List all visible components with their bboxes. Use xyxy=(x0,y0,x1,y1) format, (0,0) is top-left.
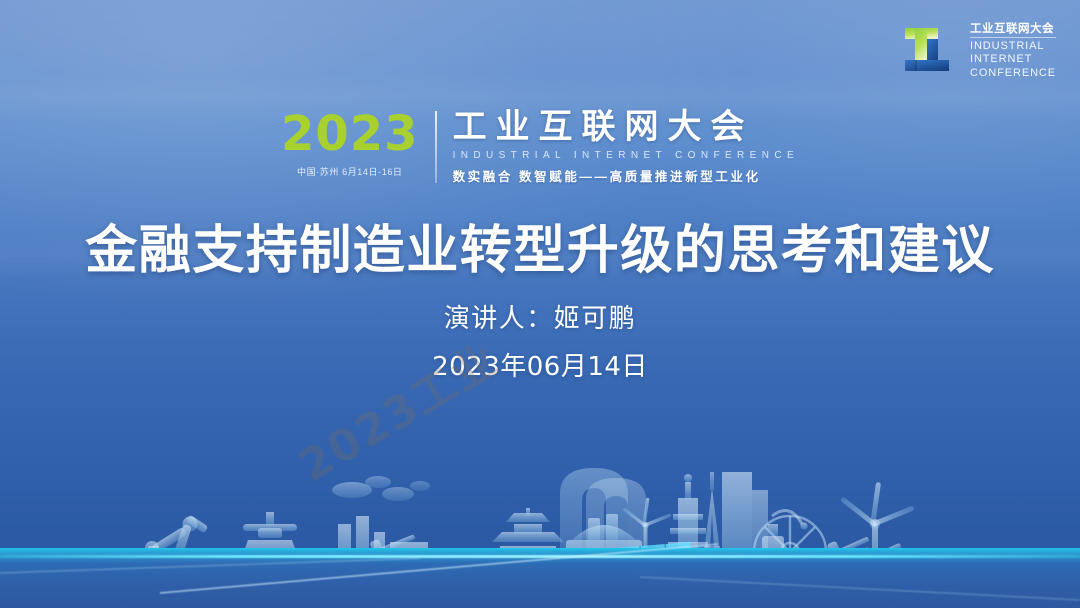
lockup-name-block: 工业互联网大会 INDUSTRIAL INTERNET CONFERENCE 数… xyxy=(453,108,799,185)
conference-place-date: 中国·苏州 6月14日-16日 xyxy=(281,165,419,178)
ground-glow-line xyxy=(0,555,1080,558)
lockup-year-block: 2023 中国·苏州 6月14日-16日 xyxy=(281,108,419,178)
conference-lockup: 2023 中国·苏州 6月14日-16日 工业互联网大会 INDUSTRIAL … xyxy=(0,108,1080,185)
lockup-divider xyxy=(435,111,437,183)
logo-en-line-1: INDUSTRIAL xyxy=(970,40,1056,53)
industrial-internet-conference-logo-icon xyxy=(902,22,960,80)
conference-logo-block: 工业互联网大会 INDUSTRIAL INTERNET CONFERENCE xyxy=(902,22,1056,80)
presenter-name: 演讲人：姬可鹏 xyxy=(0,298,1080,335)
conference-logo-text: 工业互联网大会 INDUSTRIAL INTERNET CONFERENCE xyxy=(970,22,1056,80)
conference-year: 2023 xyxy=(281,110,419,158)
page-title: 金融支持制造业转型升级的思考和建议 xyxy=(0,208,1080,283)
logo-en-line-3: CONFERENCE xyxy=(970,67,1056,80)
presentation-date: 2023年06月14日 xyxy=(0,346,1080,383)
conference-name-cn: 工业互联网大会 xyxy=(453,110,799,146)
logo-en-line-2: INTERNET xyxy=(970,53,1056,66)
logo-chinese-name: 工业互联网大会 xyxy=(970,22,1056,38)
conference-name-en: INDUSTRIAL INTERNET CONFERENCE xyxy=(453,150,799,161)
presentation-slide: 工业互联网大会 INDUSTRIAL INTERNET CONFERENCE 2… xyxy=(0,0,1080,608)
conference-tagline: 数实融合 数智赋能——高质量推进新型工业化 xyxy=(453,166,799,185)
presenter-meta: 演讲人：姬可鹏 2023年06月14日 xyxy=(0,298,1080,383)
